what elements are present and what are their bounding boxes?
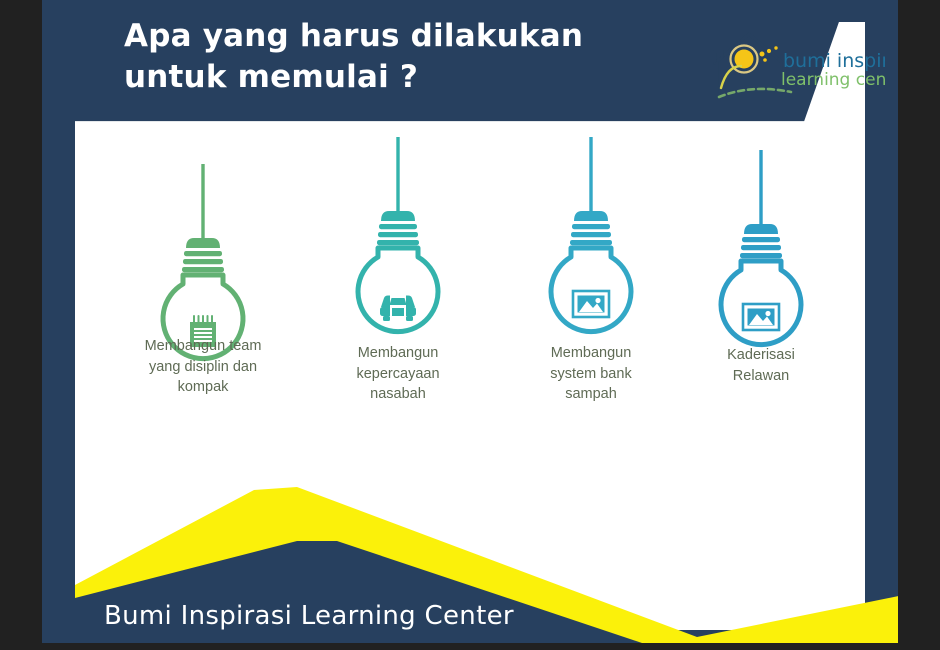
picture-icon (743, 304, 779, 330)
bumi-inspirasi-logo: bumi inspirasi learning center (705, 26, 885, 104)
logo-subtitle: learning center (781, 70, 885, 90)
frame-left-edge (0, 0, 42, 650)
slide-footer-text: Bumi Inspirasi Learning Center (104, 601, 514, 631)
sun-dots-icon (760, 46, 778, 62)
caption-4: Kaderisasi Relawan (661, 345, 861, 386)
frame-bottom-edge (0, 643, 940, 650)
bulb-glass (358, 248, 438, 332)
car-icon (380, 294, 416, 321)
bulb-cap (377, 211, 419, 245)
logo-title: bumi inspirasi (783, 50, 885, 72)
bulb-cap (740, 224, 782, 258)
caption-2: Membangun kepercayaan nasabah (298, 343, 498, 405)
swoosh-icon (721, 66, 741, 88)
bulb-cap (182, 238, 224, 272)
picture-icon (573, 291, 609, 317)
bulb-3 (531, 137, 651, 367)
screenshot-canvas: Membangun team yang disiplin dan kompak (0, 0, 940, 650)
caption-1: Membangun team yang disiplin dan kompak (103, 336, 303, 398)
bulb-cap (570, 211, 612, 245)
presentation-slide: Membangun team yang disiplin dan kompak (42, 0, 898, 643)
slide-title: Apa yang harus dilakukan untuk memulai ? (124, 16, 664, 98)
frame-right-edge (898, 0, 940, 650)
bulb-2 (338, 137, 458, 367)
